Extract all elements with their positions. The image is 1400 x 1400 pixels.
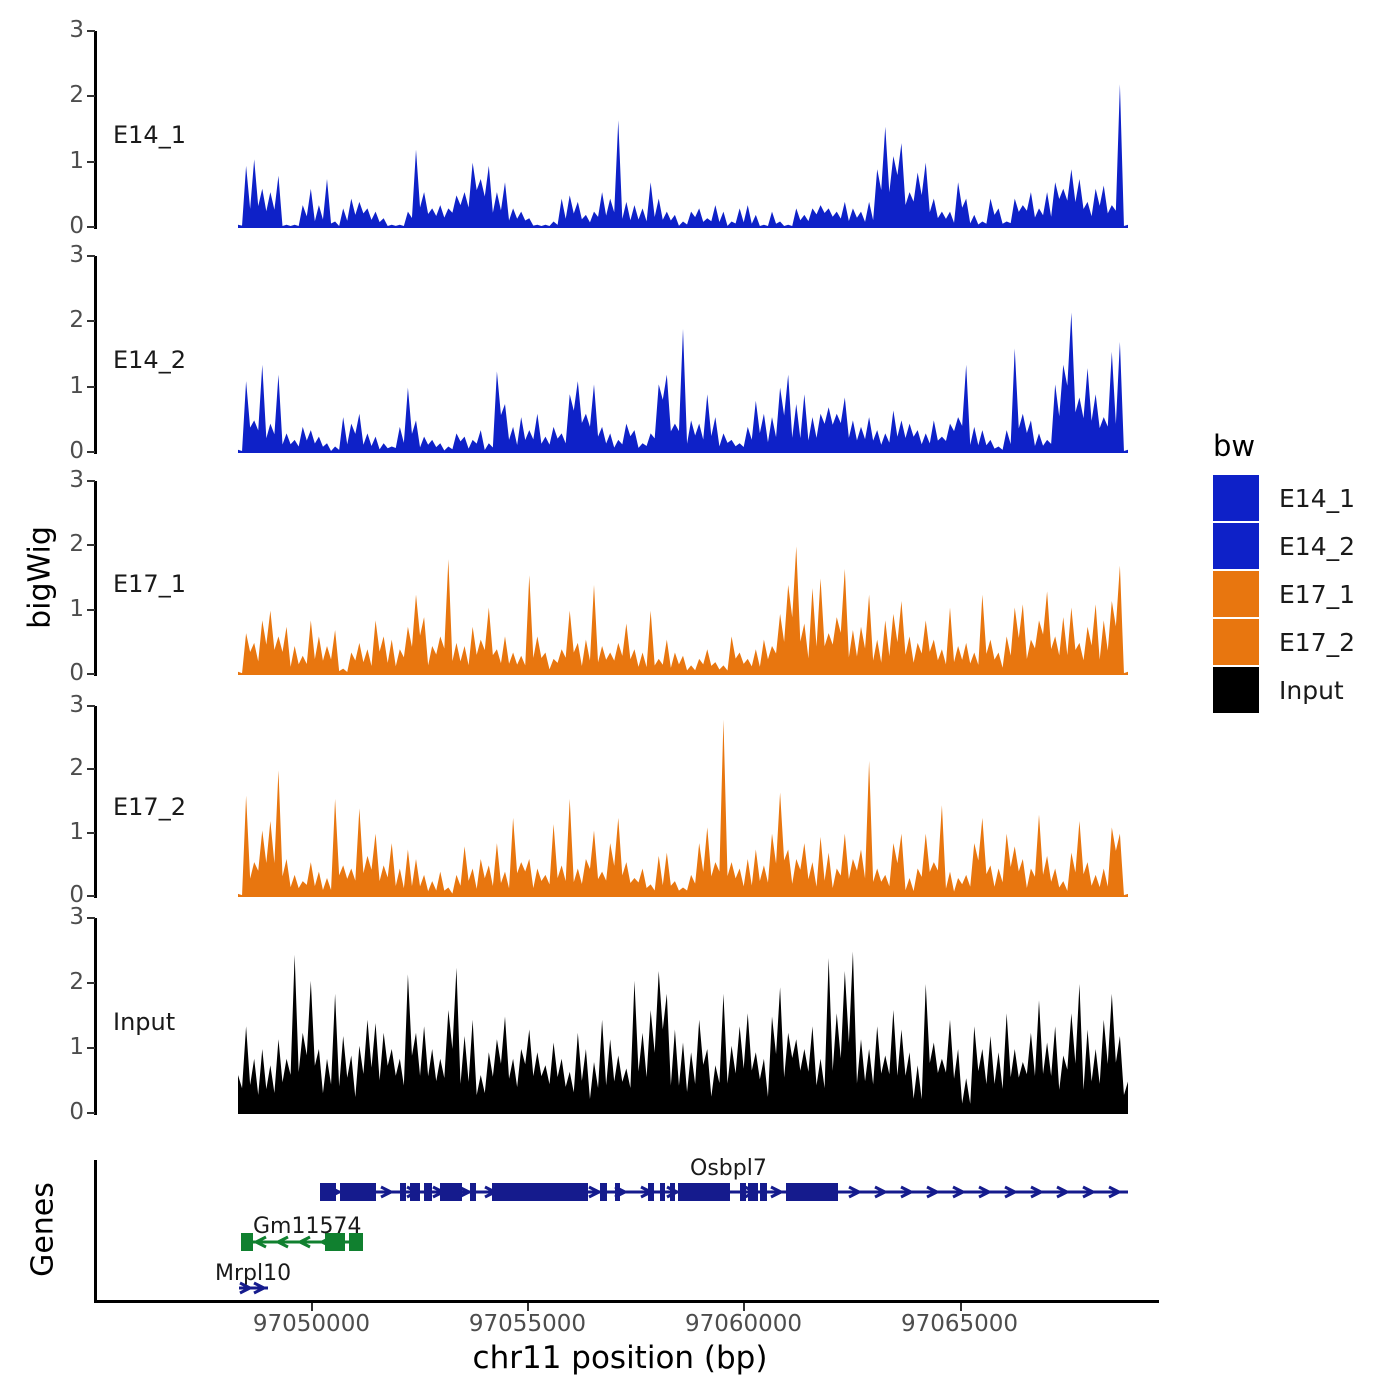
y-tick-mark (87, 768, 95, 770)
gene-label-gm11574: Gm11574 (253, 1216, 361, 1238)
x-tick-label: 97065000 (880, 1313, 1040, 1336)
y-tick-mark (87, 544, 95, 546)
y-tick-label: 1 (58, 375, 84, 398)
legend-item-e14_1[interactable]: E14_1 (1213, 475, 1355, 521)
y-tick-label: 0 (58, 440, 84, 463)
legend-label: Input (1279, 678, 1344, 703)
gene-exon (400, 1183, 406, 1201)
y-tick-label: 2 (58, 757, 84, 780)
genes-panel (0, 1155, 1180, 1300)
track-profile-input (238, 918, 1128, 1114)
y-tick-mark (87, 609, 95, 611)
gene-exon (670, 1183, 675, 1201)
legend-item-input[interactable]: Input (1213, 667, 1355, 713)
x-tick-label: 97055000 (447, 1313, 607, 1336)
x-axis-line (94, 1300, 1159, 1303)
legend-swatch (1213, 619, 1259, 665)
y-tick-label: 1 (58, 598, 84, 621)
y-tick-mark (87, 832, 95, 834)
y-tick-label: 1 (58, 1036, 84, 1059)
panel-axis-line-e17_2 (94, 706, 97, 898)
track-profile-e14_2 (238, 256, 1128, 453)
y-tick-mark (87, 917, 95, 919)
y-tick-mark (87, 30, 95, 32)
x-tick-mark (960, 1303, 962, 1311)
y-tick-label: 3 (58, 906, 84, 929)
legend-label: E17_1 (1279, 582, 1355, 607)
legend-swatch (1213, 523, 1259, 569)
panel-axis-line-e17_1 (94, 481, 97, 676)
y-tick-mark (87, 95, 95, 97)
legend-items: E14_1E14_2E17_1E17_2Input (1213, 475, 1355, 713)
legend-swatch (1213, 475, 1259, 521)
y-tick-mark (87, 480, 95, 482)
y-tick-label: 1 (58, 150, 84, 173)
y-tick-label: 3 (58, 469, 84, 492)
legend-item-e14_2[interactable]: E14_2 (1213, 523, 1355, 569)
panel-axis-line-e14_1 (94, 31, 97, 229)
y-tick-mark (87, 255, 95, 257)
track-label-e17_2: E17_2 (113, 795, 186, 819)
track-profile-e17_2 (238, 706, 1128, 897)
x-tick-mark (527, 1303, 529, 1311)
gene-exon (440, 1183, 462, 1201)
legend: bw E14_1E14_2E17_1E17_2Input (1213, 432, 1355, 715)
y-tick-label: 0 (58, 662, 84, 685)
y-tick-label: 0 (58, 215, 84, 238)
track-label-e17_1: E17_1 (113, 572, 186, 596)
legend-item-e17_1[interactable]: E17_1 (1213, 571, 1355, 617)
y-tick-mark (87, 895, 95, 897)
track-profile-e17_1 (238, 481, 1128, 675)
y-tick-label: 3 (58, 694, 84, 717)
gene-exon (678, 1183, 730, 1201)
legend-label: E14_2 (1279, 534, 1355, 559)
gene-exon (648, 1183, 654, 1201)
track-label-input: Input (113, 1010, 175, 1034)
legend-label: E17_2 (1279, 630, 1355, 655)
y-tick-label: 2 (58, 533, 84, 556)
gene-exon (410, 1183, 420, 1201)
gene-exon (470, 1183, 476, 1201)
y-axis-title: bigWig (23, 508, 58, 648)
track-label-e14_2: E14_2 (113, 348, 186, 372)
legend-title: bw (1213, 432, 1355, 461)
gene-exon (492, 1183, 588, 1201)
gene-exon (760, 1183, 767, 1201)
gene-label-mrpl10: Mrpl10 (215, 1263, 291, 1285)
y-tick-label: 0 (58, 1101, 84, 1124)
gene-exon (748, 1183, 758, 1201)
genes-track-svg (0, 1155, 1180, 1300)
gene-exon (600, 1183, 607, 1201)
y-tick-label: 3 (58, 19, 84, 42)
legend-swatch (1213, 571, 1259, 617)
y-tick-mark (87, 673, 95, 675)
gene-exon (660, 1183, 665, 1201)
y-tick-mark (87, 386, 95, 388)
x-tick-label: 97060000 (663, 1313, 823, 1336)
legend-label: E14_1 (1279, 486, 1355, 511)
track-label-e14_1: E14_1 (113, 123, 186, 147)
panel-axis-line-input (94, 918, 97, 1115)
y-tick-mark (87, 982, 95, 984)
gene-exon (740, 1183, 746, 1201)
y-tick-label: 2 (58, 971, 84, 994)
legend-item-e17_2[interactable]: E17_2 (1213, 619, 1355, 665)
gene-exon (424, 1183, 432, 1201)
x-tick-mark (311, 1303, 313, 1311)
y-tick-label: 2 (58, 84, 84, 107)
x-tick-mark (743, 1303, 745, 1311)
gene-exon (615, 1183, 620, 1201)
y-tick-mark (87, 1047, 95, 1049)
genes-axis-line (94, 1160, 97, 1300)
track-profile-e14_1 (238, 31, 1128, 228)
panel-axis-line-e14_2 (94, 256, 97, 454)
gene-exon (340, 1183, 376, 1201)
gene-exon (320, 1183, 336, 1201)
y-tick-label: 3 (58, 244, 84, 267)
gene-exon (241, 1233, 253, 1251)
y-tick-mark (87, 1112, 95, 1114)
y-tick-mark (87, 161, 95, 163)
y-tick-mark (87, 226, 95, 228)
y-tick-mark (87, 451, 95, 453)
legend-swatch (1213, 667, 1259, 713)
genome-browser-figure: bigWig Genes 0123E14_10123E14_20123E17_1… (0, 0, 1400, 1400)
x-axis-title: chr11 position (bp) (300, 1340, 940, 1376)
y-tick-label: 2 (58, 309, 84, 332)
gene-label-osbpl7: Osbpl7 (690, 1158, 767, 1180)
y-tick-mark (87, 320, 95, 322)
y-tick-label: 1 (58, 821, 84, 844)
y-tick-mark (87, 705, 95, 707)
x-tick-label: 97050000 (231, 1313, 391, 1336)
gene-exon (786, 1183, 838, 1201)
